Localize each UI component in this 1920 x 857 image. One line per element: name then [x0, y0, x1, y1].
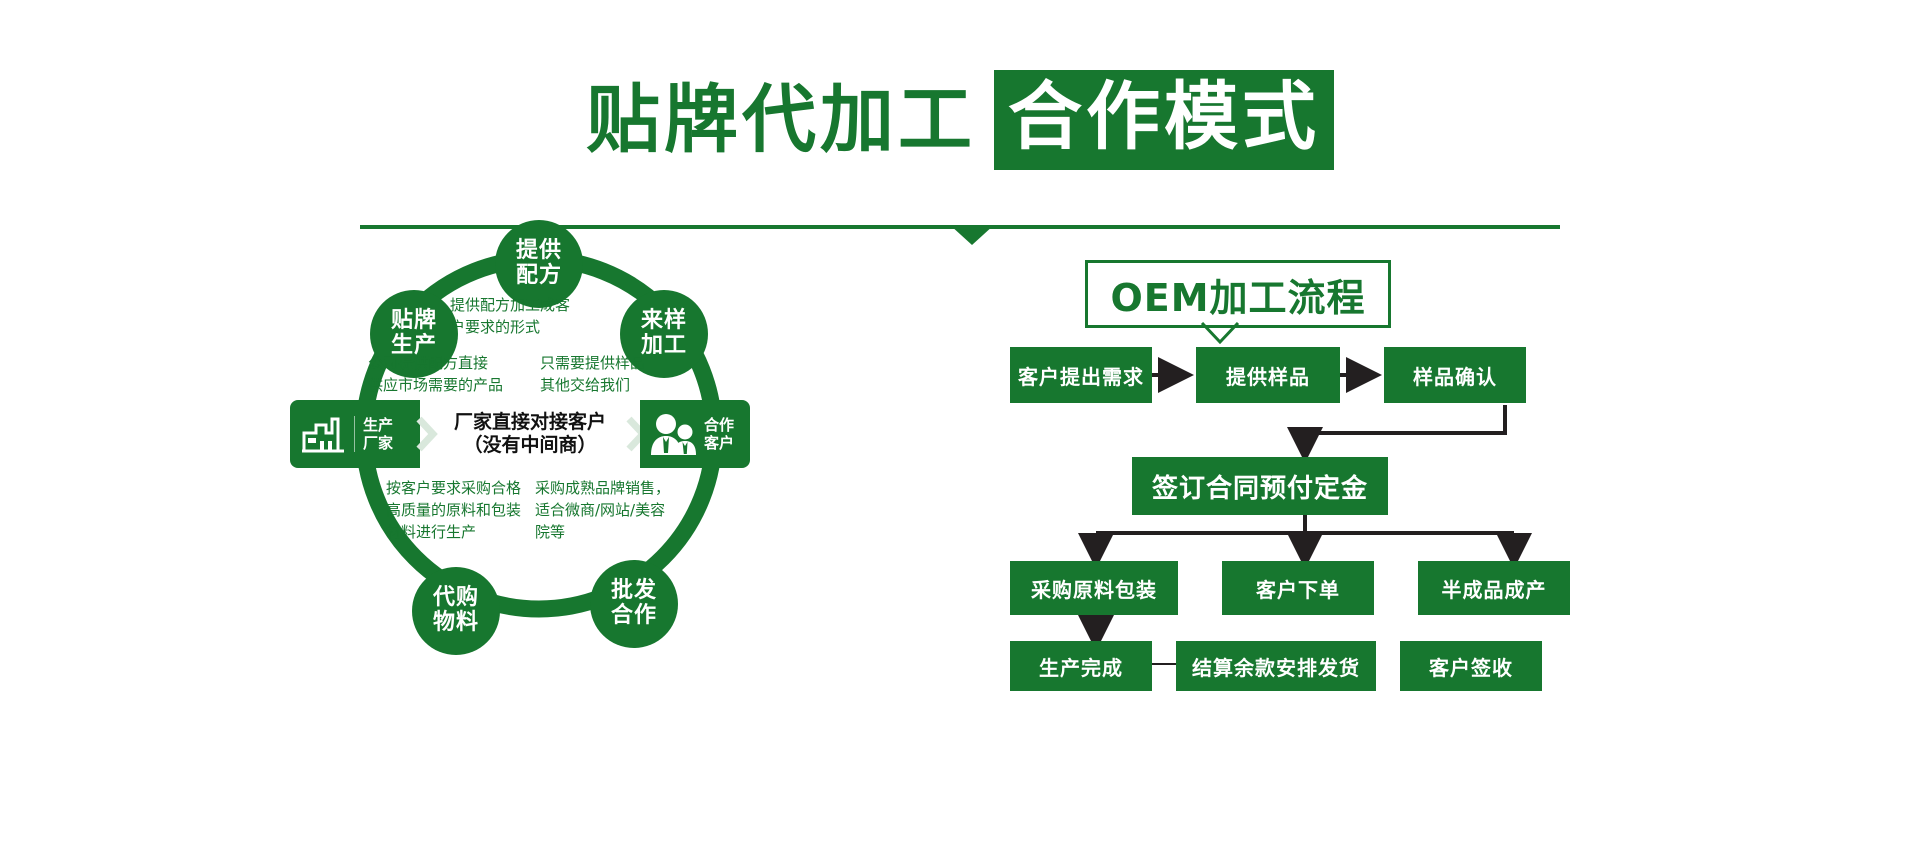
flow-box-label: 签订合同预付定金	[1152, 468, 1368, 505]
customer-chip[interactable]: 合作 客户	[640, 400, 750, 468]
flow-box-label: 客户下单	[1256, 574, 1340, 603]
page-title: 贴牌代加工 合作模式	[0, 70, 1920, 170]
oem-flowchart: OEM加工流程	[1000, 265, 1620, 665]
flow-box-settle-and-ship[interactable]: 结算余款安排发货	[1176, 641, 1376, 691]
title-plain: 贴牌代加工	[586, 83, 976, 157]
poster-root: 贴牌代加工 合作模式 提供 配方 来样 加工 贴牌 生产 批发 合作 代购 物料…	[0, 0, 1920, 857]
flow-box-customer-order[interactable]: 客户下单	[1222, 561, 1374, 615]
flow-box-purchase-materials[interactable]: 采购原料包装	[1010, 561, 1178, 615]
cycle-node-top-left-label: 贴牌 生产	[391, 309, 437, 358]
cycle-desc-top-left: 公司提供配方直接 供应市场需要的产品	[368, 353, 503, 397]
flow-box-label: 生产完成	[1039, 652, 1123, 681]
chevron-down-icon	[950, 225, 994, 245]
flow-box-label: 提供样品	[1226, 361, 1310, 390]
cycle-node-bottom-left[interactable]: 代购 物料	[412, 567, 500, 655]
flow-box-customer-receipt[interactable]: 客户签收	[1400, 641, 1542, 691]
flow-box-customer-request[interactable]: 客户提出需求	[1010, 347, 1152, 403]
cycle-desc-top-right: 只需要提供样品 其他交给我们	[540, 353, 645, 397]
speech-notch-icon	[1200, 322, 1240, 344]
manufacturer-chip[interactable]: 生产 厂家	[290, 400, 420, 468]
customers-icon	[648, 411, 698, 457]
cycle-node-bottom-right[interactable]: 批发 合作	[590, 560, 678, 648]
oem-flow-title: OEM加工流程	[1085, 260, 1391, 328]
direct-link-text: 厂家直接对接客户 （没有中间商）	[454, 411, 606, 457]
cycle-node-top-right-label: 来样 加工	[641, 309, 687, 358]
oem-flow-title-text: OEM加工流程	[1110, 267, 1365, 322]
factory-icon	[300, 411, 346, 457]
direct-link-band: 生产 厂家 厂家直接对接客户 （没有中间商）	[290, 400, 750, 468]
cycle-node-bottom-right-label: 批发 合作	[611, 579, 657, 628]
flow-box-label: 半成品成产	[1442, 574, 1547, 603]
flow-box-sign-contract[interactable]: 签订合同预付定金	[1132, 457, 1388, 515]
flow-box-provide-sample[interactable]: 提供样品	[1196, 347, 1340, 403]
cooperation-cycle-diagram: 提供 配方 来样 加工 贴牌 生产 批发 合作 代购 物料 提供配方加工成客 户…	[290, 255, 890, 675]
flow-box-label: 样品确认	[1413, 361, 1497, 390]
cycle-desc-bottom-right: 采购成熟品牌销售， 适合微商/网站/美容 院等	[535, 478, 670, 543]
title-highlight: 合作模式	[994, 70, 1334, 170]
customer-label: 合作 客户	[704, 416, 734, 452]
flow-box-production-complete[interactable]: 生产完成	[1010, 641, 1152, 691]
cycle-node-bottom-left-label: 代购 物料	[433, 586, 479, 635]
flow-box-semi-finished[interactable]: 半成品成产	[1418, 561, 1570, 615]
flow-box-label: 采购原料包装	[1031, 574, 1157, 603]
cycle-desc-bottom-left: 按客户要求采购合格 高质量的原料和包装 材料进行生产	[386, 478, 521, 543]
cycle-desc-top: 提供配方加工成客 户要求的形式	[450, 295, 570, 339]
direct-link-message: 厂家直接对接客户 （没有中间商）	[420, 400, 640, 468]
flow-box-label: 客户签收	[1429, 652, 1513, 681]
chevron-right-icon	[416, 416, 438, 452]
flow-box-sample-confirm[interactable]: 样品确认	[1384, 347, 1526, 403]
flow-box-label: 客户提出需求	[1018, 361, 1144, 390]
cycle-node-top-label: 提供 配方	[516, 239, 562, 288]
flow-box-label: 结算余款安排发货	[1192, 652, 1360, 681]
manufacturer-label: 生产 厂家	[354, 416, 393, 452]
